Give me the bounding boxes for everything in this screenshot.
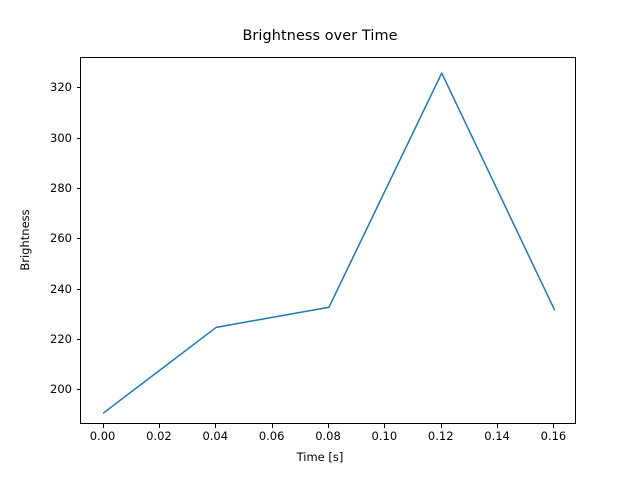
x-tick-label: 0.14 — [484, 429, 510, 443]
line-plot-svg — [81, 58, 577, 425]
x-tick-mark — [103, 424, 104, 428]
y-tick-label: 220 — [40, 332, 72, 346]
x-tick-label: 0.10 — [372, 429, 398, 443]
x-tick-label: 0.04 — [202, 429, 228, 443]
x-tick-label: 0.00 — [90, 429, 116, 443]
x-tick-label: 0.12 — [428, 429, 454, 443]
y-tick-label: 280 — [40, 181, 72, 195]
x-tick-mark — [159, 424, 160, 428]
plot-area — [80, 57, 576, 424]
x-tick-label: 0.06 — [259, 429, 285, 443]
x-tick-mark — [384, 424, 385, 428]
y-tick-mark — [77, 138, 81, 139]
x-tick-label: 0.08 — [315, 429, 341, 443]
x-tick-label: 0.02 — [146, 429, 172, 443]
x-tick-mark — [497, 424, 498, 428]
x-tick-label: 0.16 — [541, 429, 567, 443]
y-tick-mark — [77, 289, 81, 290]
x-tick-mark — [553, 424, 554, 428]
y-tick-label: 240 — [40, 282, 72, 296]
y-tick-label: 300 — [40, 131, 72, 145]
y-tick-mark — [77, 87, 81, 88]
y-tick-mark — [77, 238, 81, 239]
x-tick-mark — [272, 424, 273, 428]
y-tick-mark — [77, 389, 81, 390]
chart-title: Brightness over Time — [0, 28, 640, 44]
y-tick-label: 260 — [40, 231, 72, 245]
y-tick-mark — [77, 188, 81, 189]
y-tick-label: 200 — [40, 382, 72, 396]
y-axis-label: Brightness — [18, 209, 32, 270]
x-tick-mark — [328, 424, 329, 428]
y-tick-label: 320 — [40, 80, 72, 94]
y-tick-mark — [77, 339, 81, 340]
x-tick-mark — [441, 424, 442, 428]
figure-canvas: Brightness over Time 0.000.020.040.060.0… — [0, 0, 640, 480]
x-tick-mark — [215, 424, 216, 428]
x-axis-label: Time [s] — [0, 450, 640, 464]
data-series-brightness — [104, 73, 555, 413]
